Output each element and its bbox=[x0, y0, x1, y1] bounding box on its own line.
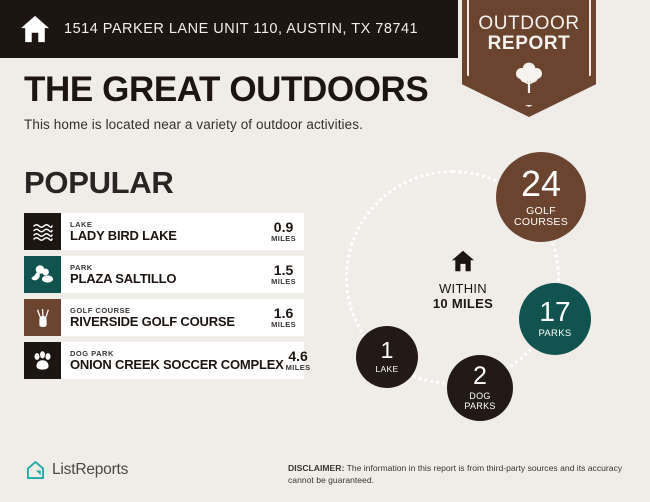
disclaimer-label: DISCLAIMER: bbox=[288, 463, 344, 473]
home-icon bbox=[450, 250, 476, 272]
item-distance-value: 1.6 bbox=[274, 306, 293, 321]
item-name: PLAZA SALTILLO bbox=[70, 272, 269, 287]
stat-value: 17 bbox=[539, 298, 570, 326]
stat-label-line2: COURSES bbox=[514, 217, 568, 228]
listreports-house-icon bbox=[26, 460, 45, 480]
item-distance-value: 1.5 bbox=[274, 263, 293, 278]
outdoor-report-badge: OUTDOOR REPORT bbox=[462, 0, 596, 117]
ring-center-note: WITHIN 10 MILES bbox=[410, 250, 516, 311]
item-distance-unit: MILES bbox=[286, 363, 311, 372]
popular-list: LAKE LADY BIRD LAKE 0.9 MILES PARK PLAZA… bbox=[24, 213, 304, 385]
stat-value: 1 bbox=[381, 339, 394, 362]
item-distance-unit: MILES bbox=[271, 320, 296, 329]
stat-circle-lake[interactable]: 1 LAKE bbox=[356, 326, 418, 388]
page-subtitle: This home is located near a variety of o… bbox=[24, 117, 428, 132]
ring-center-line1: WITHIN bbox=[410, 281, 516, 296]
item-distance: 1.5 MILES bbox=[269, 256, 304, 293]
list-item[interactable]: GOLF COURSE RIVERSIDE GOLF COURSE 1.6 MI… bbox=[24, 299, 304, 336]
item-icon-tile bbox=[24, 299, 61, 336]
stat-label: DOG PARKS bbox=[464, 392, 495, 411]
stat-value: 2 bbox=[473, 364, 487, 389]
home-icon bbox=[20, 15, 50, 43]
item-distance-unit: MILES bbox=[271, 234, 296, 243]
stat-label: GOLF COURSES bbox=[514, 206, 568, 229]
title-block: THE GREAT OUTDOORS This home is located … bbox=[24, 72, 428, 132]
disclaimer: DISCLAIMER: The information in this repo… bbox=[288, 462, 636, 487]
ring-center-line2: 10 MILES bbox=[410, 296, 516, 311]
waves-icon bbox=[32, 222, 54, 242]
property-address: 1514 PARKER LANE UNIT 110, AUSTIN, TX 78… bbox=[64, 21, 418, 37]
golf-flag-icon bbox=[32, 307, 54, 329]
item-name: ONION CREEK SOCCER COMPLEX bbox=[70, 358, 284, 373]
item-distance: 4.6 MILES bbox=[284, 342, 319, 379]
stat-circle-golf-courses[interactable]: 24 GOLF COURSES bbox=[496, 152, 586, 242]
item-name: RIVERSIDE GOLF COURSE bbox=[70, 315, 269, 330]
stat-circle-dog-parks[interactable]: 2 DOG PARKS bbox=[447, 355, 513, 421]
header-bar: 1514 PARKER LANE UNIT 110, AUSTIN, TX 78… bbox=[0, 0, 458, 58]
badge-line-1: OUTDOOR bbox=[478, 14, 579, 34]
item-distance: 1.6 MILES bbox=[269, 299, 304, 336]
item-icon-tile bbox=[24, 213, 61, 250]
tree-park-icon bbox=[31, 264, 55, 285]
tree-icon bbox=[514, 60, 544, 94]
popular-heading: POPULAR bbox=[24, 165, 173, 201]
item-icon-tile bbox=[24, 342, 61, 379]
listreports-logo[interactable]: ListReports bbox=[26, 460, 128, 480]
stat-label: PARKS bbox=[538, 329, 571, 339]
badge-line-2: REPORT bbox=[488, 34, 571, 54]
list-item[interactable]: LAKE LADY BIRD LAKE 0.9 MILES bbox=[24, 213, 304, 250]
stat-label-line2: PARKS bbox=[464, 402, 495, 412]
stat-value: 24 bbox=[521, 166, 561, 202]
paw-icon bbox=[31, 350, 54, 372]
item-text: DOG PARK ONION CREEK SOCCER COMPLEX bbox=[61, 342, 284, 379]
page-title: THE GREAT OUTDOORS bbox=[24, 72, 428, 107]
item-text: GOLF COURSE RIVERSIDE GOLF COURSE bbox=[61, 299, 269, 336]
list-item[interactable]: PARK PLAZA SALTILLO 1.5 MILES bbox=[24, 256, 304, 293]
item-icon-tile bbox=[24, 256, 61, 293]
item-distance: 0.9 MILES bbox=[269, 213, 304, 250]
logo-text: ListReports bbox=[52, 461, 128, 479]
item-distance-value: 4.6 bbox=[288, 349, 307, 364]
item-distance-unit: MILES bbox=[271, 277, 296, 286]
list-item[interactable]: DOG PARK ONION CREEK SOCCER COMPLEX 4.6 … bbox=[24, 342, 304, 379]
stat-label: LAKE bbox=[376, 365, 399, 374]
stat-circle-parks[interactable]: 17 PARKS bbox=[519, 283, 591, 355]
item-name: LADY BIRD LAKE bbox=[70, 229, 269, 244]
item-text: PARK PLAZA SALTILLO bbox=[61, 256, 269, 293]
item-distance-value: 0.9 bbox=[274, 220, 293, 235]
item-text: LAKE LADY BIRD LAKE bbox=[61, 213, 269, 250]
